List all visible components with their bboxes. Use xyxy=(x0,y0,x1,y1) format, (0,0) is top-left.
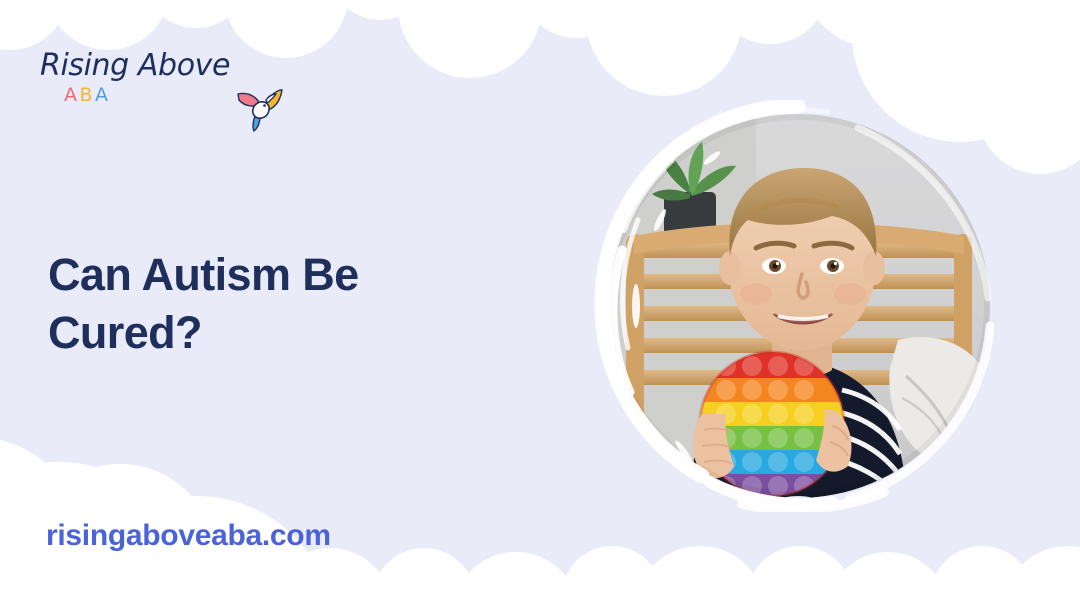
brush-stroke-frame xyxy=(592,100,1004,512)
hero-photo xyxy=(592,100,1004,512)
logo-wordmark: Rising Above xyxy=(40,48,280,84)
website-url[interactable]: risingaboveaba.com xyxy=(46,519,331,553)
brand-logo[interactable]: Rising Above ABA xyxy=(40,48,280,126)
logo-sub-wordmark: ABA xyxy=(64,84,111,106)
hummingbird-icon xyxy=(236,86,284,132)
logo-letter-b: B xyxy=(80,84,96,106)
page-title: Can Autism Be Cured? xyxy=(48,246,518,362)
poster-canvas: Rising Above ABA Can Autism Be Cured? ri… xyxy=(0,0,1080,608)
logo-letter-a1: A xyxy=(64,84,80,106)
logo-letter-a2: A xyxy=(95,84,111,106)
